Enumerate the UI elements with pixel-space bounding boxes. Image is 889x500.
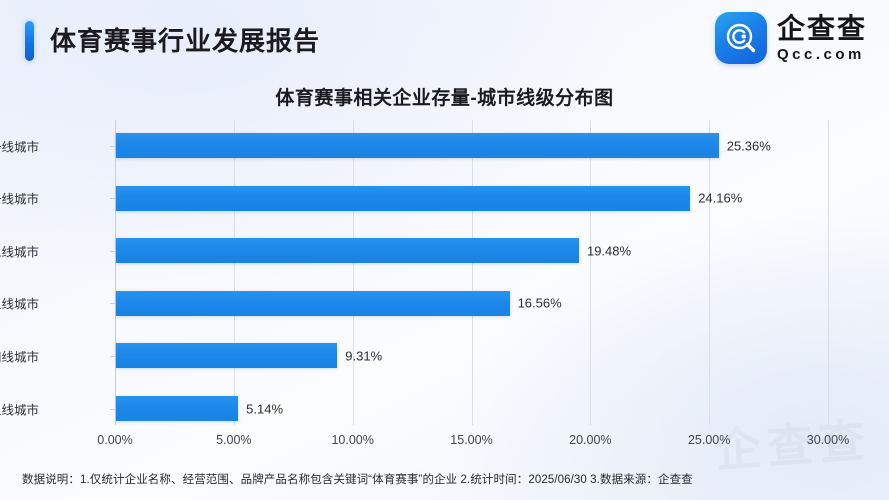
bar[interactable] bbox=[116, 291, 510, 316]
x-gridline bbox=[353, 120, 354, 425]
bar-value-label: 5.14% bbox=[246, 401, 283, 416]
brand-name-cn: 企查查 bbox=[777, 15, 867, 43]
x-gridline bbox=[709, 120, 710, 425]
bar[interactable] bbox=[116, 238, 579, 263]
x-gridline bbox=[472, 120, 473, 425]
category-label: 一线城市 bbox=[0, 189, 39, 208]
bar-value-label: 24.16% bbox=[698, 191, 742, 206]
brand-name-en: Qcc.com bbox=[777, 47, 867, 62]
x-tick-label: 25.00% bbox=[688, 433, 730, 447]
report-poster: 企查查 体育赛事行业发展报告 企查查 Qcc.com 体育赛事相关企业存量-城市… bbox=[0, 0, 889, 500]
y-axis-line bbox=[115, 120, 116, 425]
y-axis-tick bbox=[110, 251, 115, 252]
y-axis-tick bbox=[110, 303, 115, 304]
plot-area: 0.00%5.00%10.00%15.00%20.00%25.00%30.00%… bbox=[115, 120, 828, 425]
category-label: 三线城市 bbox=[0, 294, 39, 313]
y-axis-tick bbox=[110, 409, 115, 410]
chart-title: 体育赛事相关企业存量-城市线级分布图 bbox=[0, 83, 889, 110]
brand-logo[interactable]: 企查查 Qcc.com bbox=[715, 12, 867, 64]
category-label: 五线城市 bbox=[0, 399, 39, 418]
category-label: 新一线城市 bbox=[0, 136, 39, 155]
x-gridline bbox=[234, 120, 235, 425]
footnote: 数据说明：1.仅统计企业名称、经营范围、品牌产品名称包含关键词“体育赛事”的企业… bbox=[22, 471, 693, 487]
x-gridline bbox=[828, 120, 829, 425]
page-title: 体育赛事行业发展报告 bbox=[50, 18, 320, 64]
bar-chart: 0.00%5.00%10.00%15.00%20.00%25.00%30.00%… bbox=[0, 120, 889, 450]
title-accent-bar bbox=[25, 21, 34, 61]
category-label: 二线城市 bbox=[0, 241, 39, 260]
qcc-logo-icon bbox=[715, 12, 767, 64]
brand-text: 企查查 Qcc.com bbox=[777, 15, 867, 62]
x-tick-label: 10.00% bbox=[331, 433, 373, 447]
category-label: 四线城市 bbox=[0, 346, 39, 365]
bar[interactable] bbox=[116, 133, 719, 158]
bar-value-label: 16.56% bbox=[518, 296, 562, 311]
x-gridline bbox=[590, 120, 591, 425]
x-tick-label: 0.00% bbox=[97, 433, 132, 447]
y-axis-tick bbox=[110, 146, 115, 147]
bar-value-label: 19.48% bbox=[587, 243, 631, 258]
bar-value-label: 25.36% bbox=[727, 138, 771, 153]
y-axis-tick bbox=[110, 356, 115, 357]
x-tick-label: 5.00% bbox=[216, 433, 251, 447]
y-axis-tick bbox=[110, 198, 115, 199]
x-tick-label: 20.00% bbox=[569, 433, 611, 447]
x-tick-label: 30.00% bbox=[807, 433, 849, 447]
poster-header: 体育赛事行业发展报告 企查查 Qcc.com bbox=[0, 0, 889, 82]
bar[interactable] bbox=[116, 343, 337, 368]
bar-value-label: 9.31% bbox=[345, 348, 382, 363]
bar[interactable] bbox=[116, 186, 690, 211]
x-tick-label: 15.00% bbox=[450, 433, 492, 447]
bar[interactable] bbox=[116, 396, 238, 421]
